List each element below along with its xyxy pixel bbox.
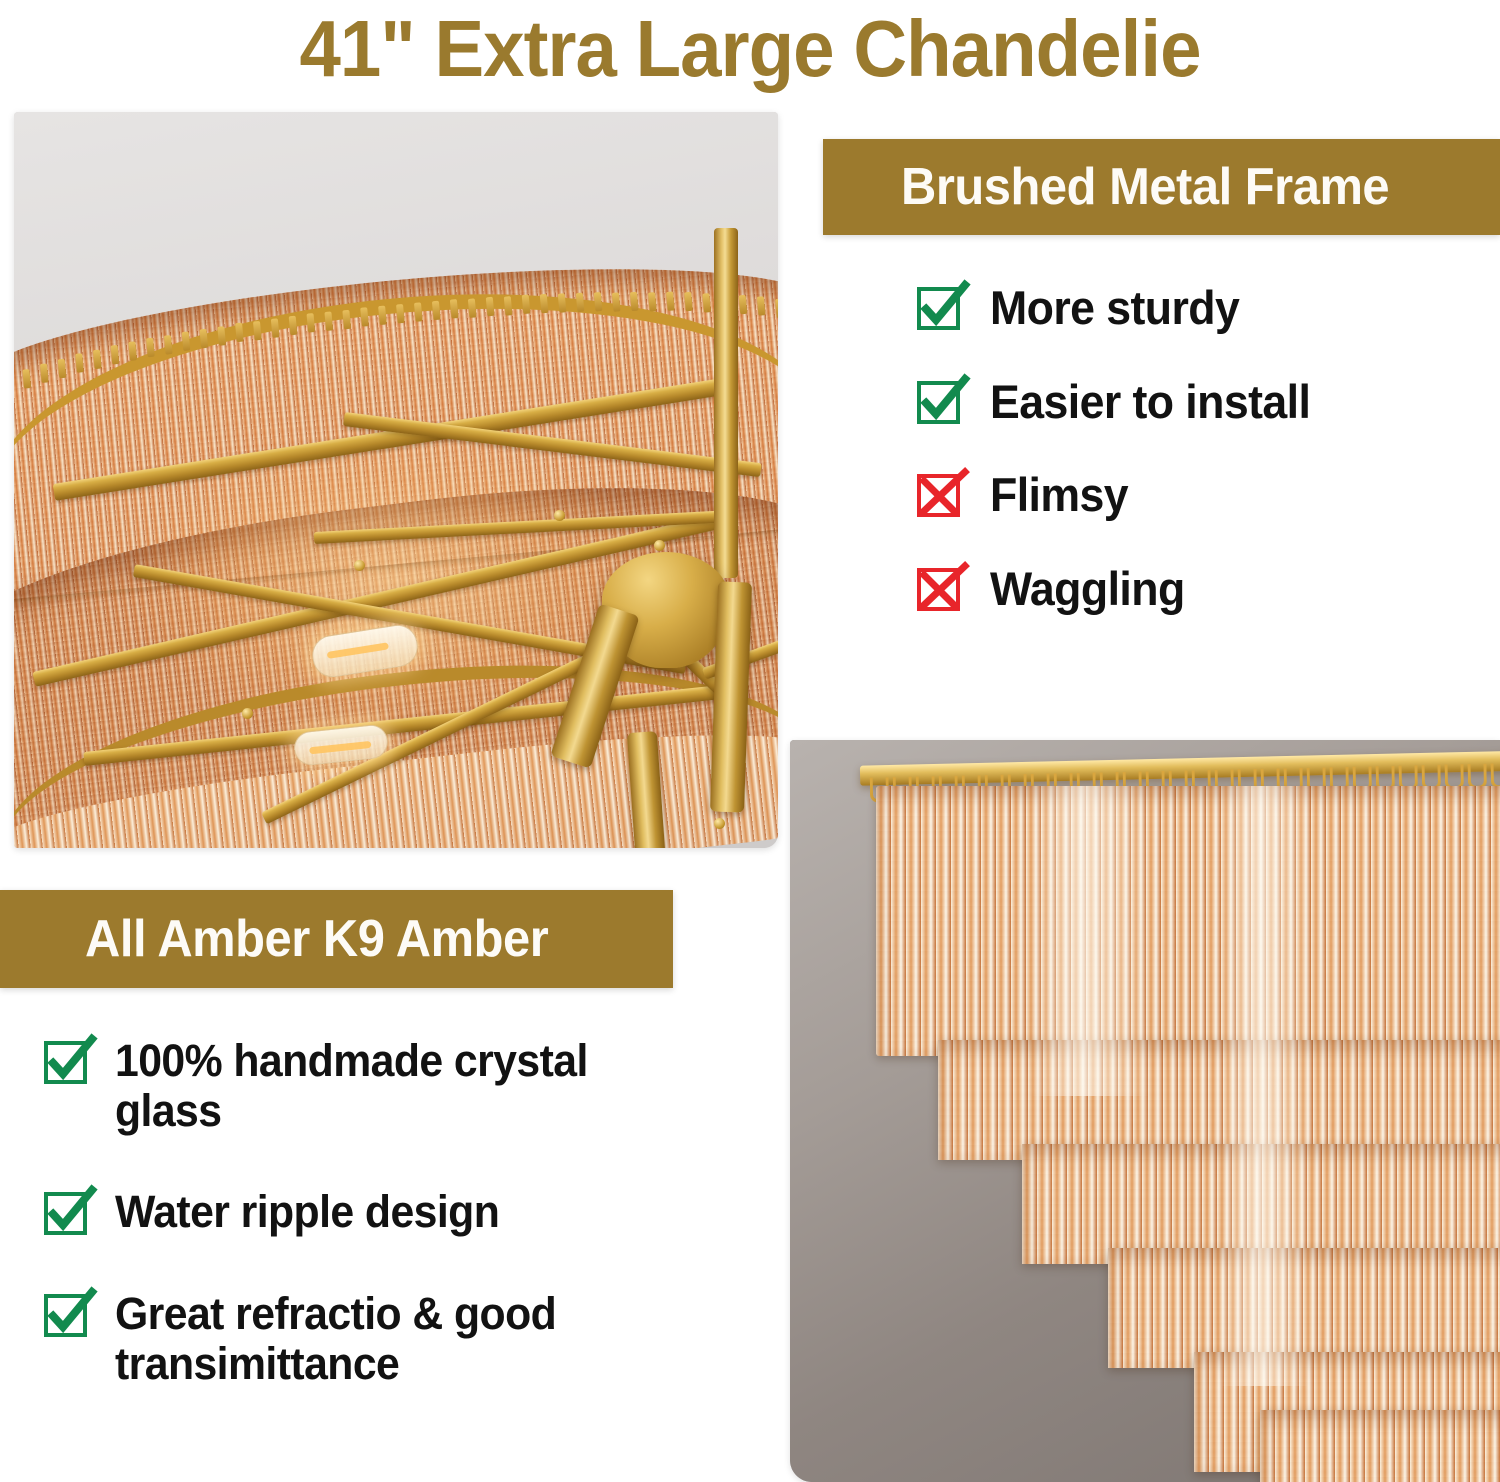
- rim-tooth: [342, 309, 351, 329]
- crystal-tier: [1022, 1144, 1500, 1264]
- frame-rivet: [354, 560, 365, 571]
- frame-rivet: [554, 510, 565, 521]
- feature-list-brushed-metal-frame: More sturdy Easier to install Flimsy Wag…: [915, 282, 1475, 657]
- banner-label: Brushed Metal Frame: [901, 157, 1389, 217]
- frame-rivet: [242, 708, 253, 719]
- rim-tooth: [630, 292, 639, 312]
- photo-chandelier-frame-closeup: [14, 112, 778, 848]
- rim-tooth: [775, 299, 778, 319]
- rim-tooth: [540, 294, 549, 314]
- rim-tooth: [111, 345, 120, 365]
- rim-tooth: [307, 313, 316, 333]
- check-box-icon: [42, 1293, 88, 1339]
- photo-amber-crystal-tiers-closeup: [790, 740, 1500, 1482]
- crystal-tier: [1108, 1248, 1500, 1368]
- feature-item: More sturdy: [915, 282, 1475, 334]
- rim-tooth: [702, 293, 711, 313]
- rim-tooth: [40, 364, 49, 384]
- feature-label: Flimsy: [990, 469, 1128, 521]
- check-box-icon: [915, 380, 961, 426]
- feature-label: More sturdy: [990, 282, 1239, 334]
- rim-tooth: [558, 293, 567, 313]
- crystal-tier: [938, 1040, 1500, 1160]
- rim-tooth: [164, 335, 173, 355]
- rim-tooth: [522, 295, 531, 315]
- check-box-icon: [42, 1191, 88, 1237]
- rim-tooth: [182, 332, 191, 352]
- infographic-root: 41" Extra Large Chandelie: [0, 0, 1500, 1482]
- rim-tooth: [93, 349, 102, 369]
- rim-tooth: [757, 297, 766, 317]
- feature-item: 100% handmade crystal glass: [42, 1036, 692, 1135]
- rim-tooth: [271, 318, 280, 338]
- rim-tooth: [666, 292, 675, 312]
- check-box-icon: [915, 286, 961, 332]
- rim-tooth: [360, 307, 369, 327]
- rim-tooth: [289, 316, 298, 336]
- rim-tooth: [235, 323, 244, 343]
- rim-tooth: [22, 369, 31, 389]
- rim-tooth: [128, 342, 137, 362]
- rim-tooth: [414, 302, 423, 322]
- rim-tooth: [199, 329, 208, 349]
- rim-tooth: [432, 301, 441, 321]
- rim-tooth: [486, 297, 495, 317]
- feature-label: Water ripple design: [115, 1187, 499, 1237]
- rim-tooth: [378, 306, 387, 326]
- frame-rivet: [654, 540, 665, 551]
- rim-tooth: [253, 320, 262, 340]
- center-stem: [714, 228, 738, 578]
- rim-tooth: [146, 338, 155, 358]
- feature-label: Great refractio & good transimittance: [115, 1289, 663, 1388]
- cross-box-icon: [915, 567, 961, 613]
- feature-list-all-amber-k9-amber: 100% handmade crystal glass Water ripple…: [42, 1036, 692, 1440]
- feature-item: Flimsy: [915, 469, 1475, 521]
- rim-tooth: [396, 304, 405, 324]
- check-box-icon: [42, 1040, 88, 1086]
- rim-tooth: [217, 326, 226, 346]
- feature-item: Great refractio & good transimittance: [42, 1289, 692, 1388]
- rim-tooth: [58, 358, 67, 378]
- feature-item: Water ripple design: [42, 1187, 692, 1237]
- crystal-tier: [1260, 1410, 1500, 1482]
- page-title: 41" Extra Large Chandelie: [53, 2, 1448, 96]
- banner-all-amber-k9-amber: All Amber K9 Amber: [0, 890, 673, 988]
- rim-tooth: [594, 292, 603, 312]
- crystal-hook: [1490, 763, 1500, 788]
- rim-tooth: [504, 296, 513, 316]
- feature-label: 100% handmade crystal glass: [115, 1036, 663, 1135]
- rim-tooth: [648, 292, 657, 312]
- rim-tooth: [450, 299, 459, 319]
- rim-tooth: [468, 298, 477, 318]
- rim-tooth: [324, 311, 333, 331]
- cross-box-icon: [915, 473, 961, 519]
- feature-item: Easier to install: [915, 376, 1475, 428]
- feature-label: Waggling: [990, 563, 1185, 615]
- rim-tooth: [739, 295, 748, 315]
- rim-tooth: [75, 354, 84, 374]
- feature-label: Easier to install: [990, 376, 1310, 428]
- crystal-tier: [876, 786, 1500, 1056]
- frame-rivet: [714, 818, 725, 829]
- feature-item: Waggling: [915, 563, 1475, 615]
- banner-brushed-metal-frame: Brushed Metal Frame: [823, 139, 1500, 235]
- rim-tooth: [684, 292, 693, 312]
- banner-label: All Amber K9 Amber: [85, 909, 548, 969]
- rim-tooth: [576, 293, 585, 313]
- rim-tooth: [612, 292, 621, 312]
